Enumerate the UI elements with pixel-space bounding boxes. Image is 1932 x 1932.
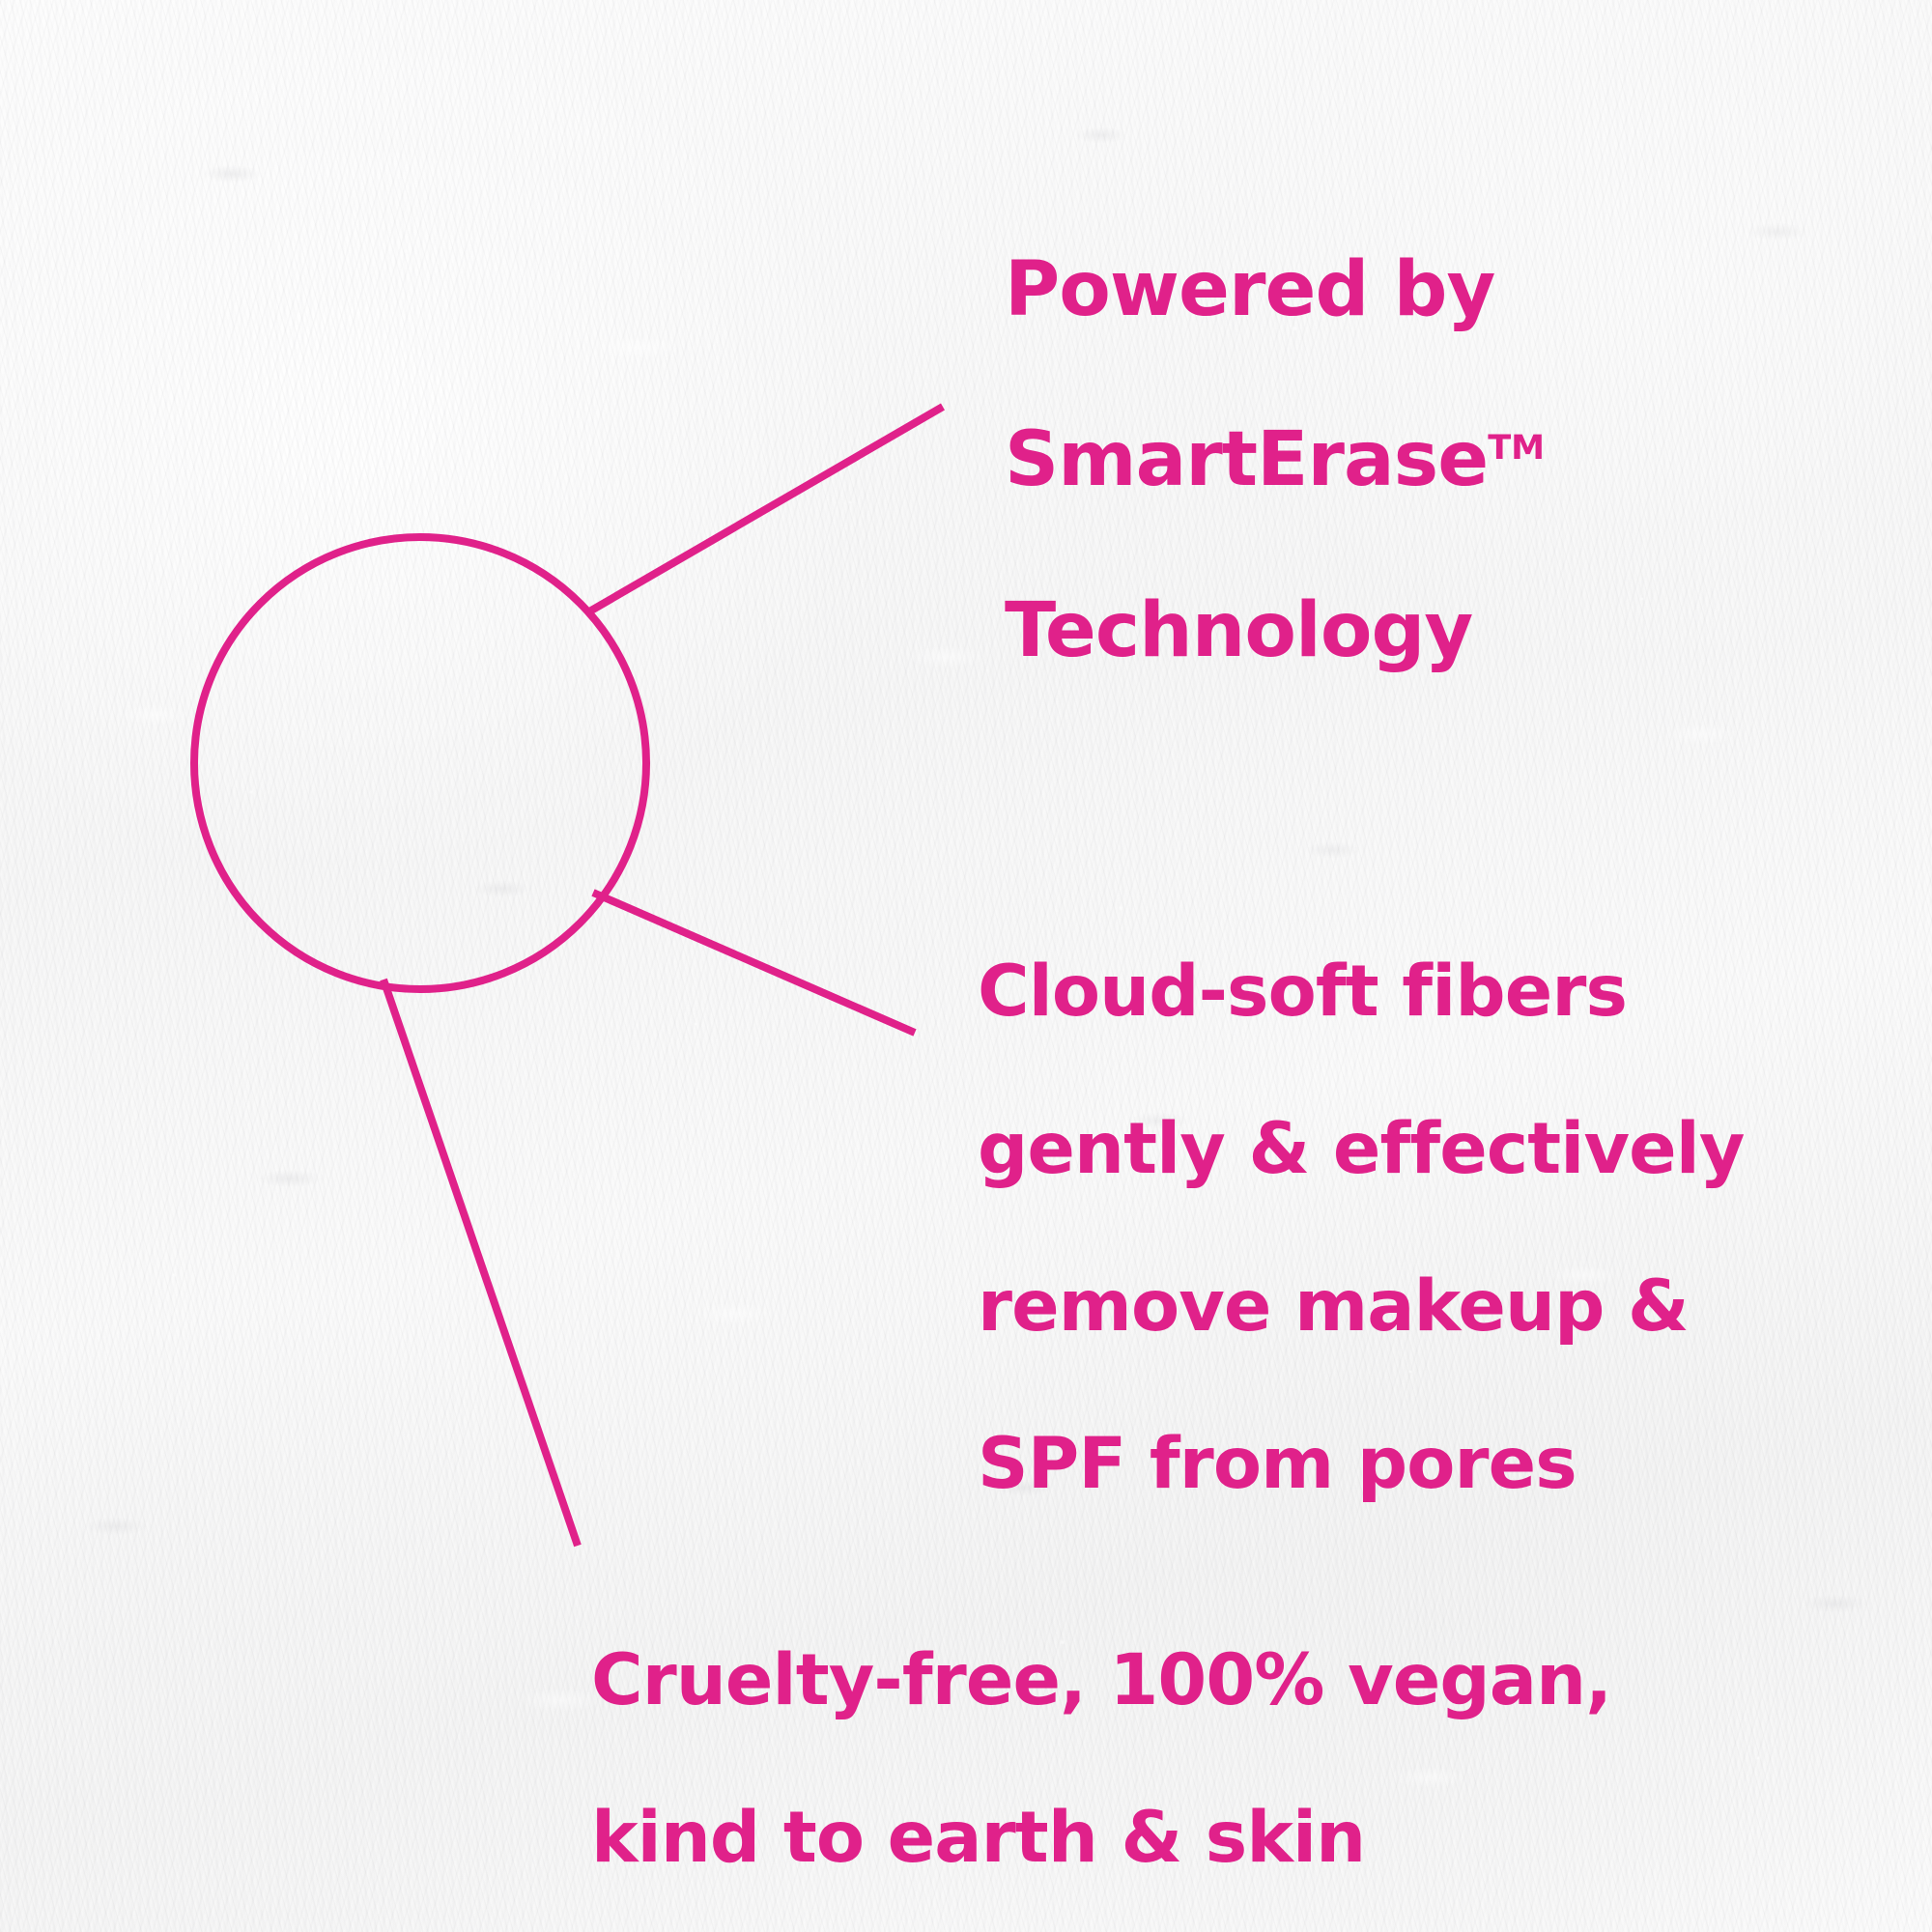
leader-line-vegan [384, 980, 578, 1546]
callout-fibers-line-4: SPF from pores [978, 1425, 1745, 1503]
magnifier-circle-outline [194, 537, 646, 989]
callout-cloud-soft-fibers: Cloud-soft fibers gently & effectively r… [978, 874, 1745, 1582]
leader-line-technology [591, 407, 943, 611]
product-feature-graphic: Powered by SmartEraseTM Technology Cloud… [0, 0, 1932, 1932]
callout-technology: Powered by SmartEraseTM Technology [1005, 162, 1545, 758]
smarterase-wordmark: SmartErase [1005, 416, 1488, 503]
callout-technology-line-3: Technology [1005, 588, 1545, 673]
leader-line-fibers [593, 893, 915, 1033]
callout-technology-line-2: SmartEraseTM [1005, 417, 1545, 502]
trademark-icon: TM [1488, 428, 1545, 468]
callout-fibers-line-2: gently & effectively [978, 1110, 1745, 1188]
callout-fibers-line-3: remove makeup & [978, 1267, 1745, 1346]
callout-vegan-line-2: kind to earth & skin [591, 1799, 1611, 1877]
callout-fibers-line-1: Cloud-soft fibers [978, 952, 1745, 1031]
callout-technology-line-1: Powered by [1005, 247, 1545, 332]
callout-vegan-line-1: Cruelty-free, 100% vegan, [591, 1641, 1611, 1719]
callout-cruelty-free-vegan: Cruelty-free, 100% vegan, kind to earth … [591, 1563, 1611, 1932]
